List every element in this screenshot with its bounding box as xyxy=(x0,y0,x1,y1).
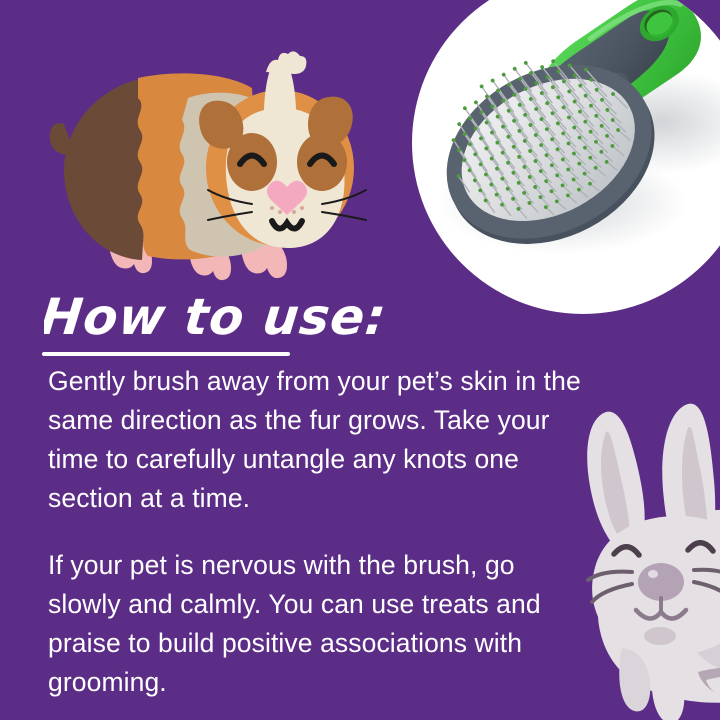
brush-photo-circle xyxy=(412,0,720,314)
instructions-body: Gently brush away from your pet’s skin i… xyxy=(48,362,593,702)
rabbit-cheek-shadow xyxy=(644,627,676,645)
guinea-pig-eye-patch-left xyxy=(227,133,277,191)
page-title: How to use: xyxy=(44,286,444,348)
page-title-text: How to use: xyxy=(44,287,390,346)
guinea-pig-illustration xyxy=(56,58,356,286)
guinea-pig-eye-patch-right xyxy=(297,133,347,191)
rabbit-illustration xyxy=(548,404,720,720)
guinea-pig-rump xyxy=(64,80,152,260)
grooming-brush-image xyxy=(412,0,720,314)
rabbit-nose xyxy=(638,563,684,601)
instruction-paragraph-1: Gently brush away from your pet’s skin i… xyxy=(48,362,593,518)
page-title-underline xyxy=(42,352,290,356)
poster-canvas: How to use: Gently brush away from your … xyxy=(0,0,720,720)
instruction-paragraph-2: If your pet is nervous with the brush, g… xyxy=(48,546,593,702)
brush-pin-layer xyxy=(412,0,720,314)
